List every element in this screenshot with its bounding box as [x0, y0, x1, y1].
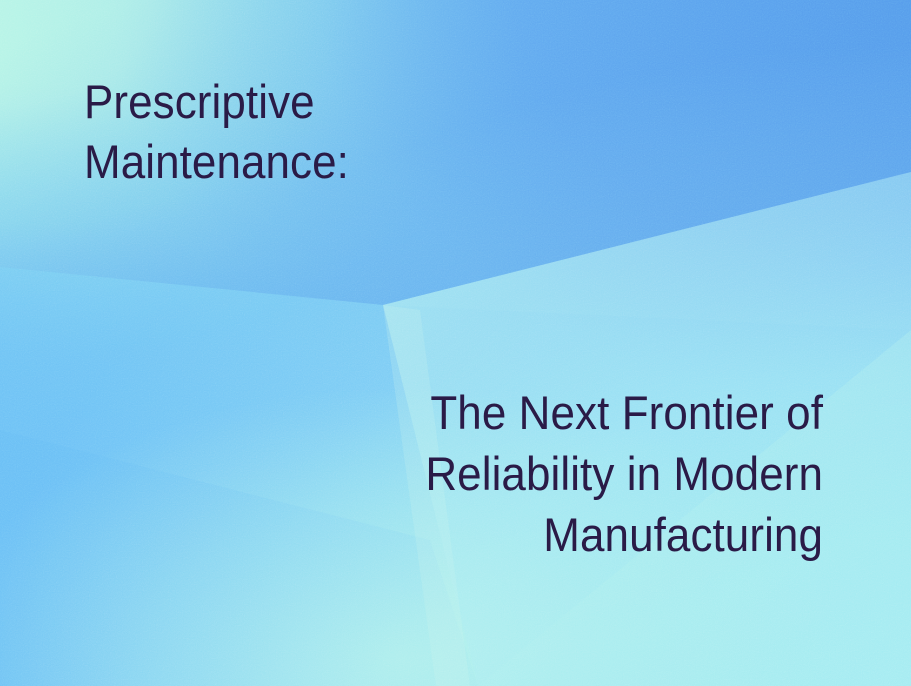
slide-title-top: Prescriptive Maintenance: — [84, 72, 477, 192]
text-layer: Prescriptive Maintenance: The Next Front… — [0, 0, 911, 686]
slide-title-main: The Next Frontier of Reliability in Mode… — [299, 382, 823, 565]
title-slide: Prescriptive Maintenance: The Next Front… — [0, 0, 911, 686]
